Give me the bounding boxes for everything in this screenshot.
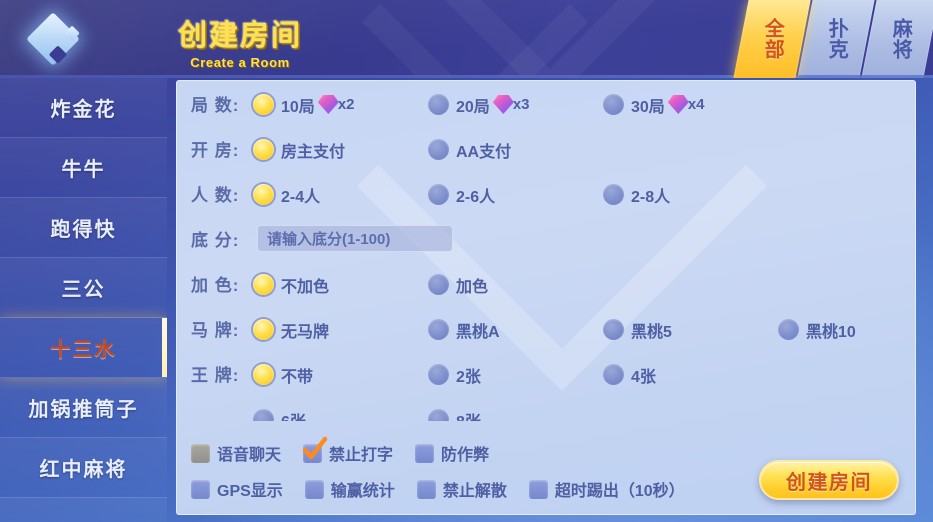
radio-option[interactable]: 不加色 xyxy=(253,273,329,297)
checkbox-disabled-icon[interactable] xyxy=(191,444,210,463)
checkbox-icon[interactable] xyxy=(303,444,322,463)
sidebar-item-7[interactable] xyxy=(0,498,167,522)
settings-scroll-area[interactable]: 局 数:10局x220局x330局x4开 房:房主支付AA支付人 数:2-4人2… xyxy=(177,81,916,421)
radio-selected-icon[interactable] xyxy=(253,139,274,160)
diamond-logo-icon[interactable] xyxy=(24,10,82,68)
radio-option[interactable]: 黑桃5 xyxy=(603,318,672,342)
page-title: 创建房间 Create a Room xyxy=(140,12,340,70)
radio-option-label: 2-6人 xyxy=(456,183,495,207)
sidebar-item-label: 炸金花 xyxy=(51,93,117,122)
radio-option-label: 黑桃5 xyxy=(631,318,672,342)
sidebar-item-6[interactable]: 红中麻将 xyxy=(0,438,167,498)
checkbox-icon[interactable] xyxy=(417,480,436,499)
radio-option[interactable]: 2-4人 xyxy=(253,183,320,207)
radio-option-label: 黑桃10 xyxy=(806,318,856,342)
settings-row-5: 王 牌:不带2张4张 xyxy=(177,351,916,396)
checkbox-icon[interactable] xyxy=(415,444,434,463)
radio-option[interactable]: 黑桃A xyxy=(428,318,500,342)
radio-unselected-icon[interactable] xyxy=(428,184,449,205)
radio-option[interactable]: 10局x2 xyxy=(253,93,355,117)
sidebar-item-4[interactable]: 十三水 xyxy=(0,318,167,378)
room-settings-panel: 局 数:10局x220局x330局x4开 房:房主支付AA支付人 数:2-4人2… xyxy=(176,80,916,515)
checkbox-icon[interactable] xyxy=(305,480,324,499)
radio-option-label: 10局 xyxy=(281,93,315,117)
checkbox-option[interactable]: GPS显示 xyxy=(191,477,283,501)
checkbox-option[interactable]: 禁止打字 xyxy=(303,441,393,465)
radio-unselected-icon[interactable] xyxy=(603,364,624,385)
sidebar-item-label: 跑得快 xyxy=(51,213,117,242)
base-score-label: 底 分: xyxy=(191,226,253,251)
radio-selected-icon[interactable] xyxy=(253,364,274,385)
radio-option-label: 不加色 xyxy=(281,273,329,297)
radio-option-label: AA支付 xyxy=(456,138,511,162)
radio-unselected-icon[interactable] xyxy=(778,319,799,340)
radio-option[interactable]: 2-6人 xyxy=(428,183,495,207)
app-header: 创建房间 Create a Room 全部扑克麻将 xyxy=(0,0,933,78)
checkbox-label: GPS显示 xyxy=(217,477,283,501)
sidebar-item-1[interactable]: 牛牛 xyxy=(0,138,167,198)
radio-option-label: 6张 xyxy=(281,408,306,422)
radio-option[interactable]: 2-8人 xyxy=(603,183,670,207)
settings-row-label: 王 牌: xyxy=(191,361,253,386)
checkbox-option[interactable]: 防作弊 xyxy=(415,441,489,465)
settings-row-label: 局 数: xyxy=(191,91,253,116)
radio-option-label: 房主支付 xyxy=(281,138,345,162)
radio-unselected-icon[interactable] xyxy=(253,409,274,421)
radio-unselected-icon[interactable] xyxy=(428,364,449,385)
radio-option[interactable]: 黑桃10 xyxy=(778,318,856,342)
settings-row-label: 开 房: xyxy=(191,136,253,161)
radio-option-label: 20局 xyxy=(456,93,490,117)
create-room-button[interactable]: 创建房间 xyxy=(759,460,899,500)
radio-option[interactable]: 房主支付 xyxy=(253,138,345,162)
radio-option-label: 不带 xyxy=(281,363,313,387)
gem-multiplier: x3 xyxy=(513,96,530,113)
settings-row-6: 6张8张 xyxy=(177,396,916,421)
sidebar-item-label: 红中麻将 xyxy=(40,453,128,482)
radio-option-label: 4张 xyxy=(631,363,656,387)
radio-selected-icon[interactable] xyxy=(253,184,274,205)
settings-row-label: 人 数: xyxy=(191,181,253,206)
checkbox-option[interactable]: 超时踢出（10秒） xyxy=(529,477,685,501)
settings-row-1: 开 房:房主支付AA支付 xyxy=(177,126,916,171)
checkbox-option[interactable]: 输赢统计 xyxy=(305,477,395,501)
create-room-button-label: 创建房间 xyxy=(786,466,872,495)
settings-row-3: 加 色:不加色加色 xyxy=(177,261,916,306)
sidebar-item-label: 加锅推筒子 xyxy=(29,393,139,422)
radio-selected-icon[interactable] xyxy=(253,319,274,340)
checkbox-label: 禁止解散 xyxy=(443,477,507,501)
radio-unselected-icon[interactable] xyxy=(428,319,449,340)
radio-option-label: 30局 xyxy=(631,93,665,117)
gem-icon xyxy=(318,95,339,114)
radio-option-label: 加色 xyxy=(456,273,488,297)
settings-row-2: 人 数:2-4人2-6人2-8人 xyxy=(177,171,916,216)
gem-icon xyxy=(493,95,514,114)
settings-row-label: 马 牌: xyxy=(191,316,253,341)
game-sidebar[interactable]: 炸金花牛牛跑得快三公十三水加锅推筒子红中麻将 xyxy=(0,78,167,522)
settings-row-0: 局 数:10局x220局x330局x4 xyxy=(177,81,916,126)
radio-unselected-icon[interactable] xyxy=(428,409,449,421)
radio-unselected-icon[interactable] xyxy=(603,94,624,115)
sidebar-item-label: 十三水 xyxy=(51,333,117,362)
gem-multiplier: x4 xyxy=(688,96,705,113)
radio-unselected-icon[interactable] xyxy=(603,184,624,205)
radio-option[interactable]: 6张 xyxy=(253,408,306,422)
checkbox-icon[interactable] xyxy=(191,480,210,499)
gem-multiplier: x2 xyxy=(338,96,355,113)
radio-option[interactable]: 无马牌 xyxy=(253,318,329,342)
gem-icon xyxy=(668,95,689,114)
checkbox-option[interactable]: 禁止解散 xyxy=(417,477,507,501)
settings-row-label: 加 色: xyxy=(191,271,253,296)
tab-label: 麻将 xyxy=(889,18,910,60)
radio-option[interactable]: 30局x4 xyxy=(603,93,705,117)
sidebar-item-0[interactable]: 炸金花 xyxy=(0,78,167,138)
radio-option-label: 2-8人 xyxy=(631,183,670,207)
radio-option-label: 8张 xyxy=(456,408,481,422)
radio-option[interactable]: 2张 xyxy=(428,363,481,387)
sidebar-item-2[interactable]: 跑得快 xyxy=(0,198,167,258)
radio-option[interactable]: 20局x3 xyxy=(428,93,530,117)
checkbox-icon[interactable] xyxy=(529,480,548,499)
radio-selected-icon[interactable] xyxy=(253,94,274,115)
checkbox-label: 超时踢出（10秒） xyxy=(555,477,685,501)
radio-option-label: 2张 xyxy=(456,363,481,387)
radio-option[interactable]: 4张 xyxy=(603,363,656,387)
radio-option-label: 黑桃A xyxy=(456,318,500,342)
checkbox-label: 语音聊天 xyxy=(217,441,281,465)
sidebar-item-label: 三公 xyxy=(62,273,106,302)
page-title-cn: 创建房间 xyxy=(140,12,340,54)
radio-unselected-icon[interactable] xyxy=(428,274,449,295)
sidebar-item-5[interactable]: 加锅推筒子 xyxy=(0,378,167,438)
sidebar-item-label: 牛牛 xyxy=(62,153,106,182)
tab-label: 扑克 xyxy=(825,18,846,60)
checkbox-label: 防作弊 xyxy=(441,441,489,465)
base-score-row: 底 分:请输入底分(1-100) xyxy=(177,216,916,261)
base-score-input[interactable]: 请输入底分(1-100) xyxy=(257,225,453,252)
category-tabs: 全部扑克麻将 xyxy=(739,0,931,78)
radio-option[interactable]: AA支付 xyxy=(428,138,511,162)
tab-label: 全部 xyxy=(761,18,782,60)
radio-option[interactable]: 加色 xyxy=(428,273,488,297)
checkbox-option[interactable]: 语音聊天 xyxy=(191,441,281,465)
page-title-en: Create a Room xyxy=(140,55,340,70)
radio-option[interactable]: 8张 xyxy=(428,408,481,422)
radio-unselected-icon[interactable] xyxy=(603,319,624,340)
radio-selected-icon[interactable] xyxy=(253,274,274,295)
radio-option[interactable]: 不带 xyxy=(253,363,313,387)
radio-option-label: 无马牌 xyxy=(281,318,329,342)
sidebar-item-3[interactable]: 三公 xyxy=(0,258,167,318)
settings-row-4: 马 牌:无马牌黑桃A黑桃5黑桃10 xyxy=(177,306,916,351)
radio-option-label: 2-4人 xyxy=(281,183,320,207)
checkbox-label: 输赢统计 xyxy=(331,477,395,501)
checkbox-label: 禁止打字 xyxy=(329,441,393,465)
radio-unselected-icon[interactable] xyxy=(428,94,449,115)
base-score-placeholder: 请输入底分(1-100) xyxy=(267,228,390,249)
radio-unselected-icon[interactable] xyxy=(428,139,449,160)
